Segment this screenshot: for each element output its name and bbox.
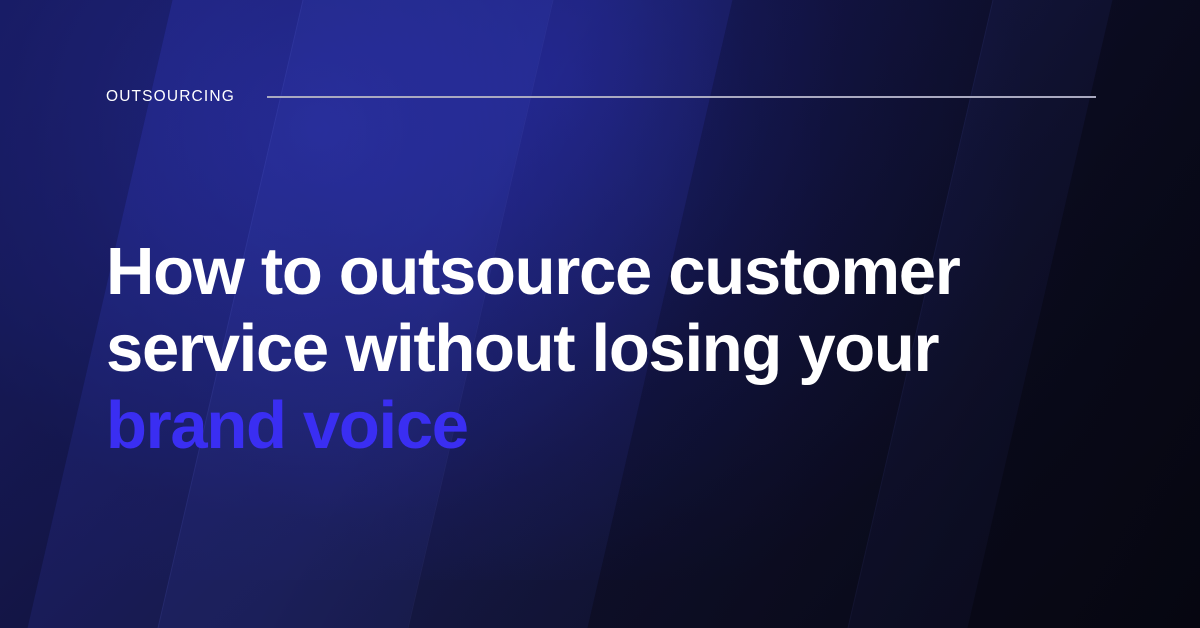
headline-line-2: service without losing your [106,311,938,386]
eyebrow-row: OUTSOURCING [106,89,1096,105]
social-card: OUTSOURCING How to outsource customer se… [0,0,1200,628]
page-title: How to outsource customer service withou… [106,233,1046,464]
eyebrow-divider [267,96,1096,98]
category-label: OUTSOURCING [106,89,235,105]
headline-accent-line: brand voice [106,388,468,463]
card-content: OUTSOURCING How to outsource customer se… [0,0,1200,628]
headline-line-1: How to outsource customer [106,234,959,309]
